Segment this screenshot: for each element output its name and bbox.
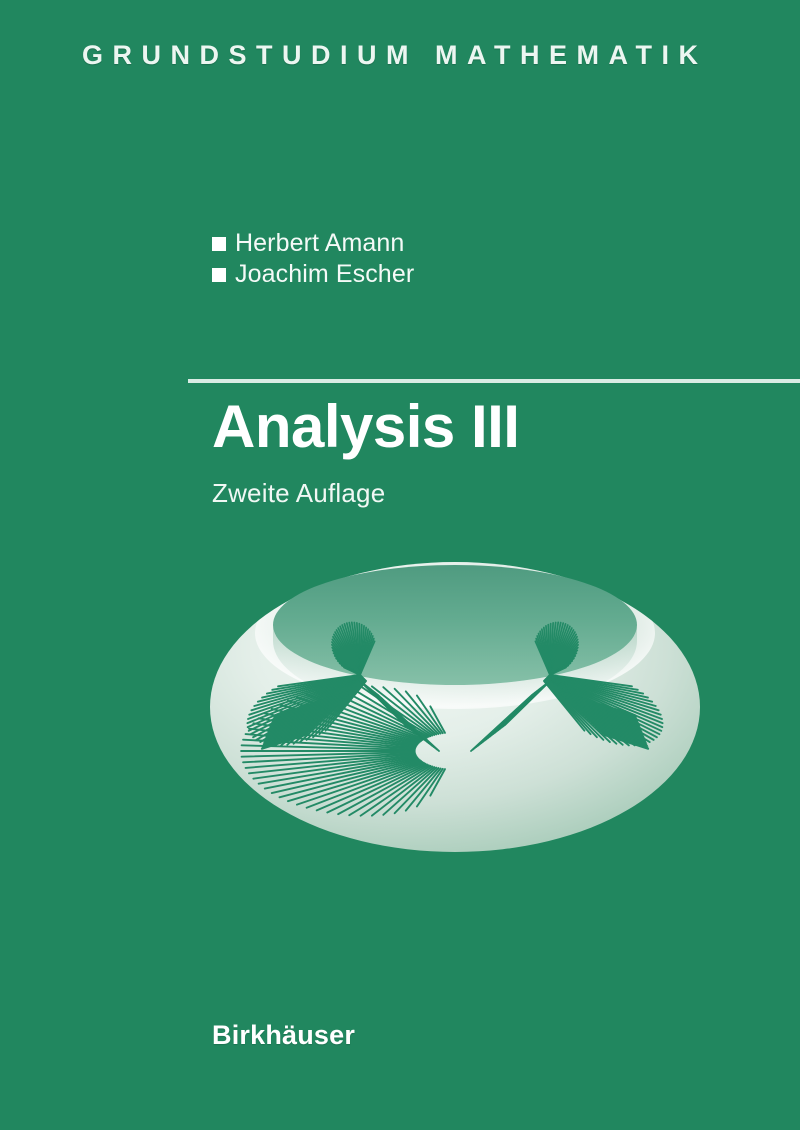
author-row: Herbert Amann xyxy=(212,228,414,259)
title-divider-rule xyxy=(188,379,800,383)
author-row: Joachim Escher xyxy=(212,259,414,290)
book-cover: GRUNDSTUDIUM MATHEMATIK Herbert Amann Jo… xyxy=(0,0,800,1130)
publisher-logo: Birkhäuser xyxy=(212,1020,355,1051)
author-name: Herbert Amann xyxy=(235,231,404,256)
page-title: Analysis III xyxy=(212,394,519,460)
torus-svg xyxy=(200,555,710,860)
square-bullet-icon xyxy=(212,268,226,282)
author-list: Herbert Amann Joachim Escher xyxy=(212,228,414,290)
torus-hole xyxy=(273,565,637,685)
torus-caustic-illustration xyxy=(200,555,710,860)
edition-subtitle: Zweite Auflage xyxy=(212,478,385,509)
series-title: GRUNDSTUDIUM MATHEMATIK xyxy=(82,40,762,71)
author-name: Joachim Escher xyxy=(235,262,414,287)
square-bullet-icon xyxy=(212,237,226,251)
